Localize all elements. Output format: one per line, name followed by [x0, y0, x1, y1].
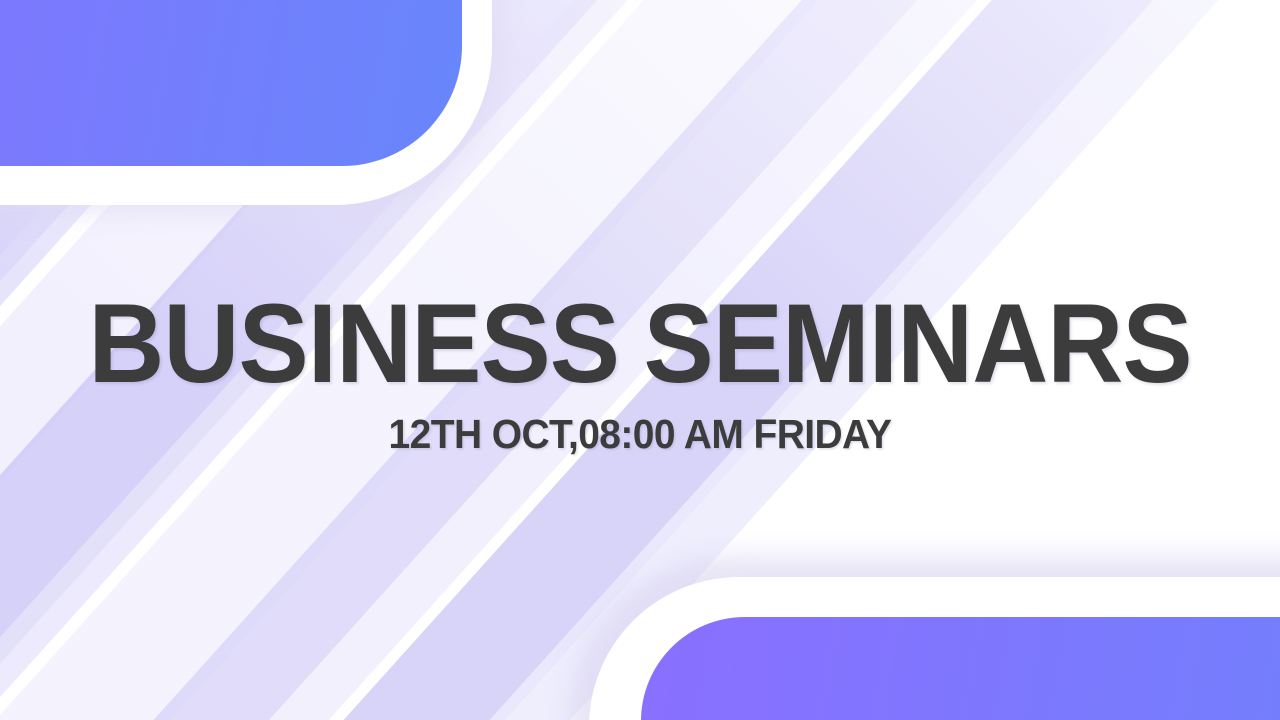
poster-text-block: BUSINESSSEMINARS 12TH OCT,08:00 AM FRIDA… — [0, 288, 1280, 455]
poster-canvas: BUSINESSSEMINARS 12TH OCT,08:00 AM FRIDA… — [0, 0, 1280, 720]
top-left-gradient-card — [0, 0, 462, 166]
bottom-right-gradient-card — [641, 617, 1280, 720]
page-title: BUSINESSSEMINARS — [38, 288, 1241, 400]
title-word-business: BUSINESS — [88, 281, 619, 406]
event-datetime-line: 12TH OCT,08:00 AM FRIDAY — [32, 414, 1248, 455]
title-word-seminars: SEMINARS — [643, 281, 1191, 406]
